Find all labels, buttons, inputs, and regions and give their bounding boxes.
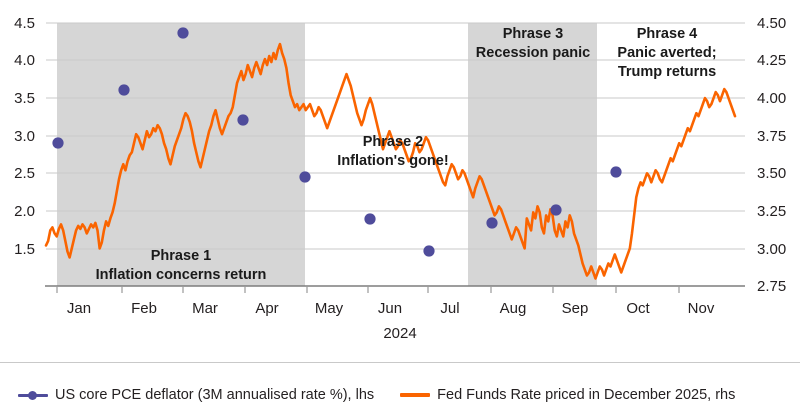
y-axis-left-tick-0: 4.5 <box>14 15 35 32</box>
x-axis-tick-label-3: Apr <box>255 300 278 317</box>
y-axis-left-tick-6: 1.5 <box>14 241 35 258</box>
legend-item-fedfunds[interactable]: Fed Funds Rate priced in December 2025, … <box>400 387 735 403</box>
series-point-pce-6[interactable] <box>423 245 434 256</box>
annotation-phrase3-line-1: Recession panic <box>476 45 590 61</box>
y-axis-right-tick-7: 2.75 <box>757 278 786 295</box>
series-point-pce-1[interactable] <box>118 84 129 95</box>
legend-marker-line-icon <box>400 393 430 397</box>
series-point-pce-7[interactable] <box>486 217 497 228</box>
annotation-phrase4-line-2: Trump returns <box>618 64 716 80</box>
annotation-phrase4: Phrase 4Panic averted;Trump returns <box>617 26 716 80</box>
x-axis-title: 2024 <box>383 325 416 342</box>
x-axis-tick-label-8: Sep <box>562 300 589 317</box>
chart-svg: 4.54.03.53.02.52.01.54.504.254.003.753.5… <box>0 0 800 345</box>
y-axis-right-tick-6: 3.00 <box>757 241 786 258</box>
y-axis-right-tick-0: 4.50 <box>757 15 786 32</box>
series-point-pce-0[interactable] <box>52 137 63 148</box>
series-point-pce-9[interactable] <box>610 166 621 177</box>
legend-item-pce[interactable]: US core PCE deflator (3M annualised rate… <box>18 387 374 403</box>
x-axis-tick-label-10: Nov <box>688 300 715 317</box>
chart-plot-area: 4.54.03.53.02.52.01.54.504.254.003.753.5… <box>0 0 800 345</box>
y-axis-left-tick-5: 2.0 <box>14 203 35 220</box>
y-axis-left-tick-3: 3.0 <box>14 128 35 145</box>
legend-label-fedfunds: Fed Funds Rate priced in December 2025, … <box>437 387 735 403</box>
x-axis-tick-label-4: May <box>315 300 344 317</box>
annotation-phrase3-line-0: Phrase 3 <box>503 26 563 42</box>
annotation-phrase2-line-1: Inflation's gone! <box>337 153 448 169</box>
y-axis-right-tick-4: 3.50 <box>757 165 786 182</box>
y-axis-right-tick-2: 4.00 <box>757 90 786 107</box>
annotation-phrase2-line-0: Phrase 2 <box>363 134 423 150</box>
y-axis-left-tick-2: 3.5 <box>14 90 35 107</box>
legend-marker-dot-icon <box>18 389 48 401</box>
series-point-pce-4[interactable] <box>299 171 310 182</box>
x-axis-tick-label-2: Mar <box>192 300 218 317</box>
annotation-phrase4-line-1: Panic averted; <box>617 45 716 61</box>
series-point-pce-2[interactable] <box>177 27 188 38</box>
y-axis-right-tick-1: 4.25 <box>757 52 786 69</box>
chart-root: 4.54.03.53.02.52.01.54.504.254.003.753.5… <box>0 0 800 413</box>
y-axis-right-tick-5: 3.25 <box>757 203 786 220</box>
y-axis-left-tick-1: 4.0 <box>14 52 35 69</box>
series-point-pce-3[interactable] <box>237 114 248 125</box>
chart-legend: US core PCE deflator (3M annualised rate… <box>0 362 800 413</box>
x-axis-tick-label-7: Aug <box>500 300 527 317</box>
series-point-pce-5[interactable] <box>364 213 375 224</box>
y-axis-right-tick-3: 3.75 <box>757 128 786 145</box>
x-axis-tick-label-5: Jun <box>378 300 402 317</box>
y-axis-left-tick-4: 2.5 <box>14 165 35 182</box>
annotation-phrase1-line-0: Phrase 1 <box>151 248 211 264</box>
annotation-phrase1-line-1: Inflation concerns return <box>96 267 267 283</box>
legend-label-pce: US core PCE deflator (3M annualised rate… <box>55 387 374 403</box>
x-axis-tick-label-6: Jul <box>440 300 459 317</box>
x-axis-tick-label-9: Oct <box>626 300 650 317</box>
series-point-pce-8[interactable] <box>550 204 561 215</box>
annotation-phrase4-line-0: Phrase 4 <box>637 26 697 42</box>
x-axis-tick-label-0: Jan <box>67 300 91 317</box>
x-axis-tick-label-1: Feb <box>131 300 157 317</box>
